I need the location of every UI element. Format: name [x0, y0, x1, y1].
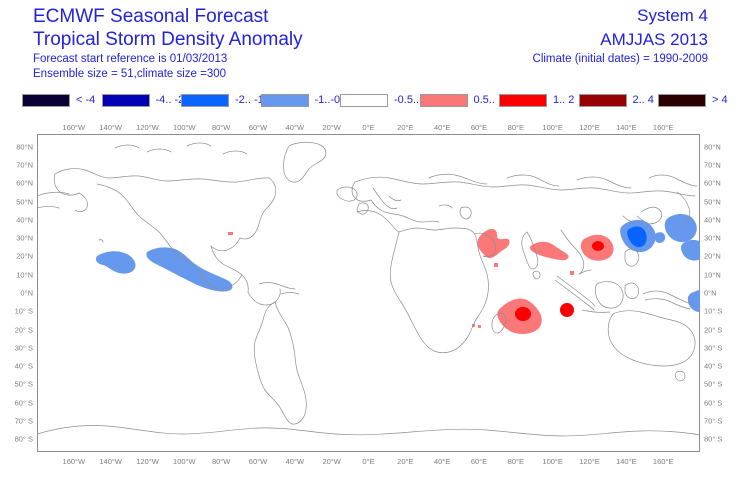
- lon-tick-label: 160°E: [653, 457, 674, 466]
- lon-tick-label: 160°E: [653, 123, 674, 132]
- anomaly-west-pacific-negative-midright: [681, 240, 700, 261]
- legend-item-2: -2.. -1: [181, 90, 264, 110]
- color-legend: < -4-4.. -2-2.. -1-1..-0.5-0.5.. 0.50.5.…: [0, 90, 740, 112]
- anomaly-west-pacific-negative-mid: [654, 232, 665, 243]
- legend-item-5: 0.5.. 1: [420, 90, 505, 110]
- lat-tick-label-left: 60°N: [2, 179, 33, 188]
- lon-tick-label: 20°E: [397, 457, 413, 466]
- legend-item-0: < -4: [22, 90, 95, 110]
- chart-header: ECMWF Seasonal Forecast Tropical Storm D…: [0, 0, 740, 86]
- lon-tick-label: 100°E: [542, 123, 563, 132]
- lat-tick-label-right: 70° S: [704, 416, 722, 425]
- forecast-start-reference: Forecast start reference is 01/03/2013: [33, 53, 227, 65]
- lat-tick-label-left: 20° S: [2, 325, 33, 334]
- lat-tick-label-right: 60°N: [704, 179, 721, 188]
- anomaly-java-positive: [560, 303, 574, 317]
- legend-item-3: -1..-0.5: [261, 90, 350, 110]
- lat-tick-label-right: 10°N: [704, 270, 721, 279]
- lat-tick-label-left: 80°N: [2, 142, 33, 151]
- lon-tick-label: 80°E: [508, 457, 524, 466]
- lat-tick-label-left: 70° S: [2, 416, 33, 425]
- lat-tick-label-right: 10° S: [704, 307, 722, 316]
- lon-tick-label: 60°W: [249, 457, 267, 466]
- lat-tick-label-left: 10°N: [2, 270, 33, 279]
- lon-tick-label: 140°E: [616, 123, 637, 132]
- lon-tick-label: 100°W: [173, 457, 196, 466]
- lon-tick-label: 40°W: [286, 457, 304, 466]
- legend-label: 1.. 2: [553, 94, 574, 106]
- anomaly-java-speck: [570, 271, 574, 275]
- legend-item-6: 1.. 2: [499, 90, 574, 110]
- anomaly-us-east-coast-positive: [228, 232, 233, 235]
- lon-tick-label: 0°E: [362, 123, 374, 132]
- lat-tick-label-right: 80°N: [704, 142, 721, 151]
- legend-swatch: [181, 94, 229, 107]
- lat-tick-label-right: 30°N: [704, 234, 721, 243]
- lat-tick-label-left: 60° S: [2, 398, 33, 407]
- lon-tick-label: 60°E: [471, 123, 487, 132]
- legend-label: 2.. 4: [633, 94, 654, 106]
- lat-tick-label-left: 40° S: [2, 362, 33, 371]
- map-container: [37, 134, 700, 452]
- lat-tick-label-left: 30°N: [2, 234, 33, 243]
- lon-tick-label: 40°W: [286, 123, 304, 132]
- lat-tick-label-left: 70°N: [2, 161, 33, 170]
- lon-tick-label: 160°W: [63, 123, 86, 132]
- lat-tick-label-right: 60° S: [704, 398, 722, 407]
- world-map-plot: [37, 134, 700, 452]
- lon-tick-label: 120°W: [136, 123, 159, 132]
- legend-swatch: [22, 94, 70, 107]
- lon-tick-label: 40°E: [434, 457, 450, 466]
- legend-swatch: [261, 94, 309, 107]
- lat-tick-label-left: 80° S: [2, 435, 33, 444]
- system-label: System 4: [637, 6, 708, 26]
- lat-tick-label-left: 20°N: [2, 252, 33, 261]
- lon-tick-label: 140°E: [616, 457, 637, 466]
- anomaly-arabian-sea-speck: [494, 263, 498, 267]
- lon-tick-label: 80°E: [508, 123, 524, 132]
- lat-tick-label-right: 40° S: [704, 362, 722, 371]
- lat-tick-label-right: 50° S: [704, 380, 722, 389]
- page-title-line2: Tropical Storm Density Anomaly: [33, 29, 303, 51]
- page-title-line1: ECMWF Seasonal Forecast: [33, 6, 268, 28]
- legend-swatch: [420, 94, 468, 107]
- legend-swatch: [579, 94, 627, 107]
- lon-tick-label: 120°E: [579, 123, 600, 132]
- lon-tick-label: 140°W: [99, 123, 122, 132]
- lat-tick-label-left: 0°N: [2, 289, 33, 298]
- anomaly-south-indian-ocean-core: [515, 307, 531, 321]
- legend-label: < -4: [76, 94, 95, 106]
- anomaly-east-pacific-negative-west: [96, 251, 136, 273]
- season-label: AMJJAS 2013: [600, 30, 708, 50]
- anomaly-west-pacific-negative-north: [665, 214, 697, 242]
- lat-tick-label-right: 0°N: [704, 289, 717, 298]
- lon-tick-label: 0°E: [362, 457, 374, 466]
- anomaly-east-pacific-negative-east: [146, 247, 232, 291]
- lat-tick-label-left: 50°N: [2, 197, 33, 206]
- legend-label: > 4: [712, 94, 728, 106]
- climate-period-label: Climate (initial dates) = 1990-2009: [533, 53, 708, 65]
- lon-tick-label: 80°W: [212, 457, 230, 466]
- anomaly-shapes: [96, 214, 700, 334]
- legend-swatch: [340, 94, 388, 107]
- legend-item-8: > 4: [658, 90, 728, 110]
- legend-item-1: -4.. -2: [102, 90, 185, 110]
- lat-tick-label-left: 10° S: [2, 307, 33, 316]
- lon-tick-label: 60°E: [471, 457, 487, 466]
- lat-tick-label-right: 50°N: [704, 197, 721, 206]
- legend-label: -2.. -1: [235, 94, 264, 106]
- lat-tick-label-right: 70°N: [704, 161, 721, 170]
- lat-tick-label-right: 40°N: [704, 215, 721, 224]
- lon-tick-label: 80°W: [212, 123, 230, 132]
- legend-swatch: [658, 94, 706, 107]
- lat-tick-label-left: 50° S: [2, 380, 33, 389]
- legend-label: -4.. -2: [156, 94, 185, 106]
- coastlines: [37, 142, 700, 436]
- lon-tick-label: 20°W: [322, 457, 340, 466]
- ensemble-size-info: Ensemble size = 51,climate size =300: [33, 68, 226, 80]
- lon-tick-label: 120°E: [579, 457, 600, 466]
- legend-item-7: 2.. 4: [579, 90, 654, 110]
- lon-tick-label: 160°W: [63, 457, 86, 466]
- anomaly-south-indian-speck-b: [478, 325, 481, 328]
- lon-tick-label: 140°W: [99, 457, 122, 466]
- lon-tick-label: 120°W: [136, 457, 159, 466]
- lat-tick-label-right: 30° S: [704, 343, 722, 352]
- legend-swatch: [499, 94, 547, 107]
- lat-tick-label-right: 80° S: [704, 435, 722, 444]
- legend-swatch: [102, 94, 150, 107]
- lon-tick-label: 100°W: [173, 123, 196, 132]
- lon-tick-label: 40°E: [434, 123, 450, 132]
- lon-tick-label: 20°W: [322, 123, 340, 132]
- lat-tick-label-right: 20°N: [704, 252, 721, 261]
- lat-tick-label-left: 30° S: [2, 343, 33, 352]
- lat-tick-label-right: 20° S: [704, 325, 722, 334]
- lon-tick-label: 20°E: [397, 123, 413, 132]
- lat-tick-label-left: 40°N: [2, 215, 33, 224]
- anomaly-south-china-sea-core: [592, 241, 604, 251]
- lon-tick-label: 100°E: [542, 457, 563, 466]
- lon-tick-label: 60°W: [249, 123, 267, 132]
